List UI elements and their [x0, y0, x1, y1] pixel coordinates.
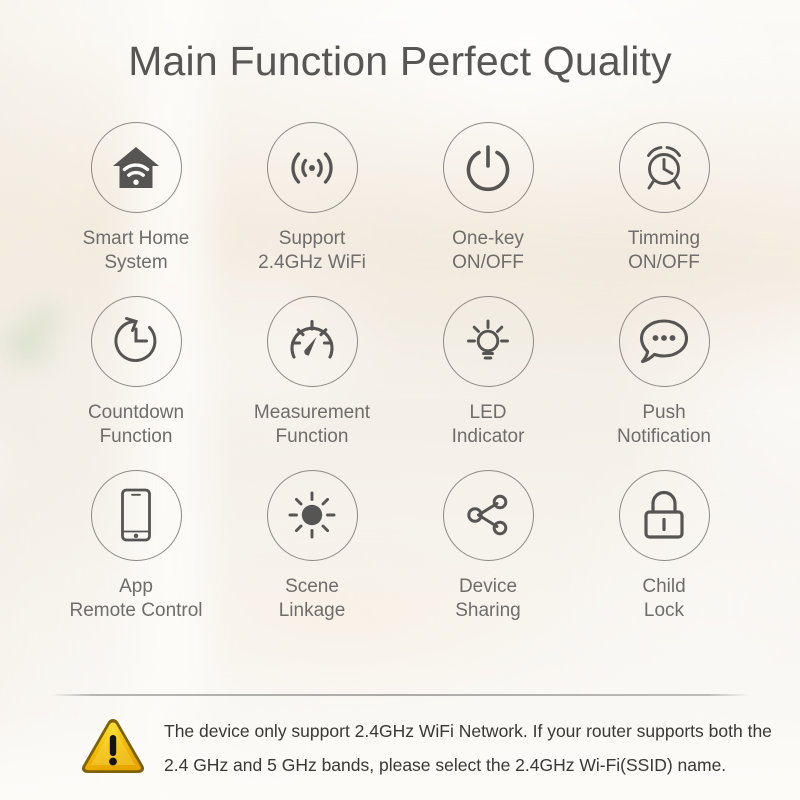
feature-countdown-function[interactable]: Countdown Function — [48, 296, 224, 449]
page-title: Main Function Perfect Quality — [0, 38, 800, 85]
feature-label: Timming ON/OFF — [628, 227, 700, 275]
feature-measurement-function[interactable]: Measurement Function — [224, 296, 400, 449]
feature-icon-circle — [443, 122, 534, 213]
feature-scene-linkage[interactable]: Scene Linkage — [224, 470, 400, 623]
speech-bubble-icon — [638, 317, 690, 365]
feature-row: App Remote Control — [0, 470, 800, 623]
wifi-signal-icon — [285, 147, 339, 189]
feature-icon-circle — [91, 470, 182, 561]
feature-label: Device Sharing — [455, 575, 521, 623]
feature-label: Scene Linkage — [279, 575, 346, 623]
feature-label: Child Lock — [642, 575, 685, 623]
feature-label: One-key ON/OFF — [452, 227, 524, 275]
feature-icon-circle — [267, 296, 358, 387]
feature-label: Countdown Function — [88, 401, 184, 449]
feature-icon-circle — [619, 470, 710, 561]
countdown-clock-icon — [111, 316, 161, 366]
feature-child-lock[interactable]: Child Lock — [576, 470, 752, 623]
lightbulb-icon — [462, 316, 514, 366]
feature-icon-circle — [267, 470, 358, 561]
feature-grid: Smart Home System — [0, 122, 800, 644]
sun-icon — [287, 490, 337, 540]
feature-icon-circle — [267, 122, 358, 213]
feature-icon-circle — [91, 122, 182, 213]
feature-label: Push Notification — [617, 401, 711, 449]
smartphone-icon — [119, 488, 153, 542]
feature-icon-circle — [619, 122, 710, 213]
feature-label: App Remote Control — [69, 575, 202, 623]
warning-notice-text: The device only support 2.4GHz WiFi Netw… — [164, 714, 772, 782]
feature-icon-circle — [443, 296, 534, 387]
feature-label: Smart Home System — [83, 227, 190, 275]
feature-push-notification[interactable]: Push Notification — [576, 296, 752, 449]
feature-one-key-on-off[interactable]: One-key ON/OFF — [400, 122, 576, 275]
section-divider — [50, 694, 750, 696]
feature-label: Measurement Function — [254, 401, 370, 449]
feature-support-24ghz-wifi[interactable]: Support 2.4GHz WiFi — [224, 122, 400, 275]
feature-app-remote-control[interactable]: App Remote Control — [48, 470, 224, 623]
feature-timming-on-off[interactable]: Timming ON/OFF — [576, 122, 752, 275]
feature-icon-circle — [443, 470, 534, 561]
gauge-meter-icon — [286, 316, 338, 366]
feature-label: Support 2.4GHz WiFi — [258, 227, 366, 275]
alarm-clock-icon — [638, 143, 690, 193]
warning-triangle-icon — [80, 716, 146, 781]
warning-notice: The device only support 2.4GHz WiFi Netw… — [0, 714, 800, 782]
feature-row: Smart Home System — [0, 122, 800, 275]
power-button-icon — [463, 143, 513, 193]
feature-led-indicator[interactable]: LED Indicator — [400, 296, 576, 449]
feature-smart-home-system[interactable]: Smart Home System — [48, 122, 224, 275]
feature-icon-circle — [619, 296, 710, 387]
feature-icon-circle — [91, 296, 182, 387]
feature-label: LED Indicator — [452, 401, 525, 449]
padlock-icon — [641, 489, 687, 541]
smart-home-wifi-icon — [111, 145, 161, 191]
feature-device-sharing[interactable]: Device Sharing — [400, 470, 576, 623]
feature-row: Countdown Function — [0, 296, 800, 449]
share-nodes-icon — [464, 491, 512, 539]
